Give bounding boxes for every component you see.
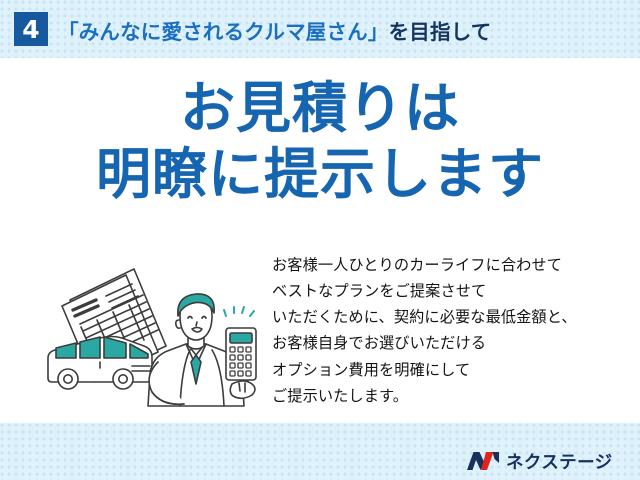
header-title-tail: を目指して [389, 15, 492, 45]
body-copy-line: ご提示いたします。 [272, 383, 634, 409]
body-copy-line: オプション費用を明確にして [272, 357, 634, 383]
headline: お見積りは 明瞭に提示します [0, 78, 640, 205]
promo-slide: 4 「みんなに愛されるクルマ屋さん」 を目指して お見積りは 明瞭に提示します … [0, 0, 640, 480]
header-title: 「みんなに愛されるクルマ屋さん」 を目指して [58, 14, 491, 46]
body-copy-line: お客様一人ひとりのカーライフに合わせて [272, 252, 634, 278]
body-copy: お客様一人ひとりのカーライフに合わせて ベストなプランをご提案させて いただくた… [272, 252, 634, 409]
body-copy-line: お客様自身でお選びいただける [272, 330, 634, 356]
sparkle-icon [224, 307, 254, 316]
headline-line-1: お見積りは [0, 78, 640, 140]
body-copy-line: いただくために、契約に必要な最低金額と、 [272, 304, 634, 330]
van-icon [48, 337, 152, 390]
nextage-n-mark-icon [466, 450, 500, 472]
calculator-icon [226, 328, 256, 380]
header-title-quoted: 「みんなに愛されるクルマ屋さん」 [58, 15, 389, 45]
body-copy-line: ベストなプランをご提案させて [272, 278, 634, 304]
sales-staff-illustration [40, 258, 275, 418]
header: 4 「みんなに愛されるクルマ屋さん」 を目指して [0, 0, 640, 58]
illustration-artwork [40, 258, 275, 418]
headline-line-2: 明瞭に提示します [0, 144, 640, 206]
brand-logo: ネクステージ [466, 448, 613, 474]
step-number-badge: 4 [14, 12, 48, 46]
brand-name: ネクステージ [506, 449, 613, 474]
